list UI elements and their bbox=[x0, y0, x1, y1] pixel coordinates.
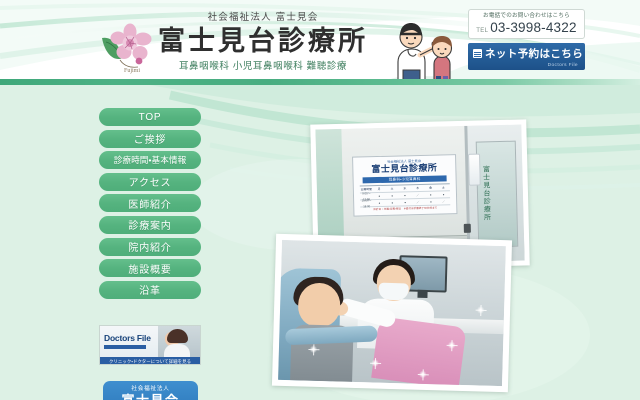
brand-subtitle: 耳鼻咽喉科 小児耳鼻咽喉科 難聴診療 bbox=[148, 60, 378, 73]
group-button-kicker: 社会福祉法人 bbox=[103, 385, 198, 393]
sidebar-item-top[interactable]: TOP bbox=[99, 108, 201, 126]
sign-cell: ● bbox=[373, 200, 386, 206]
nav-label: 診療時間・基本情報 bbox=[114, 154, 187, 166]
phone-number-row: TEL 03-3998-4322 bbox=[472, 20, 581, 35]
sparkle-icon bbox=[309, 345, 318, 354]
site-header: Fujimi 社会福祉法人 富士見会 富士見台診療所 耳鼻咽喉科 小児耳鼻咽喉科… bbox=[0, 0, 640, 85]
sign-cell: ● bbox=[399, 192, 412, 198]
entrance-wall-lamp bbox=[468, 154, 481, 186]
doctor-face-mask bbox=[378, 283, 408, 301]
sign-cell: 火 bbox=[385, 186, 398, 192]
sign-cell: ／ bbox=[412, 199, 425, 205]
sign-cell: ／ bbox=[411, 192, 424, 198]
nav-label: アクセス bbox=[129, 174, 172, 189]
site-title: 富士見台診療所 bbox=[148, 25, 378, 57]
doctors-file-caption: クリニック・ドクターについて詳細を見る bbox=[100, 357, 200, 365]
brand-block: 社会福祉法人 富士見会 富士見台診療所 耳鼻咽喉科 小児耳鼻咽喉科 難聴診療 bbox=[148, 12, 378, 73]
doctor-examining-child-illustration bbox=[382, 18, 458, 84]
nav-label: 医師紹介 bbox=[128, 196, 171, 211]
group-button-name: 富士見会 bbox=[103, 393, 198, 400]
sign-cell: 木 bbox=[411, 185, 424, 191]
online-reservation-button[interactable]: ネット予約はこちら Doctors File bbox=[468, 43, 585, 70]
sidebar-item-facility-outline[interactable]: 施設概要 bbox=[99, 259, 201, 277]
sidebar-nav: TOP ご挨拶 診療時間・基本情報 アクセス 医師紹介 診療案内 院内紹介 施設… bbox=[99, 108, 201, 302]
sign-cell: 土 bbox=[437, 184, 450, 190]
doctors-file-logo-bar bbox=[104, 345, 146, 349]
sign-cell: ● bbox=[386, 193, 399, 199]
sidebar-item-access[interactable]: アクセス bbox=[99, 173, 201, 191]
sign-title: 富士見台診療所 bbox=[356, 162, 452, 175]
child-head bbox=[298, 282, 341, 327]
sign-cell: ● bbox=[437, 191, 450, 197]
sidebar-item-history[interactable]: 沿革 bbox=[99, 281, 201, 299]
doctors-file-banner-top: Doctors File bbox=[100, 326, 200, 357]
sidebar-item-hours-info[interactable]: 診療時間・基本情報 bbox=[99, 151, 201, 169]
doctors-file-logo: Doctors File bbox=[104, 334, 151, 343]
sign-cell: ● bbox=[424, 199, 437, 205]
reserve-row: ネット予約はこちら bbox=[473, 46, 580, 61]
sign-cell: 水 bbox=[398, 185, 411, 191]
doctors-file-photo-hair bbox=[167, 329, 188, 343]
sidebar-item-greeting[interactable]: ご挨拶 bbox=[99, 130, 201, 148]
sign-cell: ● bbox=[386, 200, 399, 206]
nav-label: ご挨拶 bbox=[134, 131, 166, 146]
nav-label: TOP bbox=[139, 112, 162, 123]
sign-hours-table: 診療時間 月 火 水 木 金 土 9:00〜12:30 ● ● ● ／ bbox=[360, 183, 451, 207]
sparkle-icon bbox=[370, 358, 379, 367]
sidebar-item-facility-tour[interactable]: 院内紹介 bbox=[99, 238, 201, 256]
entrance-signboard: 社会福祉法人 富士見会 富士見台診療所 耳鼻科・小児耳鼻科 診療時間 月 火 水… bbox=[352, 154, 457, 217]
reserve-label: ネット予約はこちら bbox=[485, 46, 583, 61]
sparkle-icon bbox=[418, 370, 427, 379]
sign-cell: 15:00〜18:00 bbox=[360, 197, 373, 209]
doctors-file-banner[interactable]: Doctors File クリニック・ドクターについて詳細を見る bbox=[99, 325, 201, 365]
page-root: Fujimi 社会福祉法人 富士見会 富士見台診療所 耳鼻咽喉科 小児耳鼻咽喉科… bbox=[0, 0, 640, 400]
sidebar-item-medical-guide[interactable]: 診療案内 bbox=[99, 216, 201, 234]
sign-cell: ● bbox=[399, 199, 412, 205]
phone-number: 03-3998-4322 bbox=[490, 20, 576, 35]
group-corporation-button[interactable]: 社会福祉法人 富士見会 bbox=[103, 381, 198, 400]
nav-label: 施設概要 bbox=[128, 261, 171, 276]
sign-band: 耳鼻科・小児耳鼻科 bbox=[363, 175, 447, 183]
phone-lead-text: お電話でのお問い合わせはこちら bbox=[472, 12, 581, 20]
tel-label: TEL bbox=[476, 28, 488, 34]
sidebar-item-doctors[interactable]: 医師紹介 bbox=[99, 194, 201, 212]
exam-photo-inner bbox=[278, 240, 506, 386]
sign-cell: 月 bbox=[373, 186, 386, 192]
sign-cell: 金 bbox=[424, 185, 437, 191]
nav-label: 院内紹介 bbox=[128, 239, 171, 254]
entrance-door-switch bbox=[464, 224, 471, 233]
doctors-file-photo bbox=[158, 326, 200, 357]
calendar-icon bbox=[473, 49, 482, 58]
reserve-provider: Doctors File bbox=[473, 63, 580, 68]
nav-label: 沿革 bbox=[139, 282, 161, 297]
sparkle-icon bbox=[447, 341, 456, 350]
nav-label: 診療案内 bbox=[128, 217, 171, 232]
sign-cell: ／ bbox=[437, 198, 450, 204]
sparkle-icon bbox=[476, 305, 485, 314]
brand-kicker: 社会福祉法人 富士見会 bbox=[148, 12, 378, 24]
phone-contact-box: お電話でのお問い合わせはこちら TEL 03-3998-4322 bbox=[468, 9, 585, 39]
sign-cell: ● bbox=[373, 193, 386, 199]
sign-note: 休診日：木曜・日曜・祝日 ※受付は診療終了30分前まで bbox=[361, 206, 449, 212]
entrance-door-text: 富士見台診療所 bbox=[481, 165, 490, 221]
sign-cell: ● bbox=[424, 192, 437, 198]
logo-caption: Fujimi bbox=[124, 68, 140, 74]
doctor-examining-child-photo[interactable] bbox=[272, 234, 512, 393]
